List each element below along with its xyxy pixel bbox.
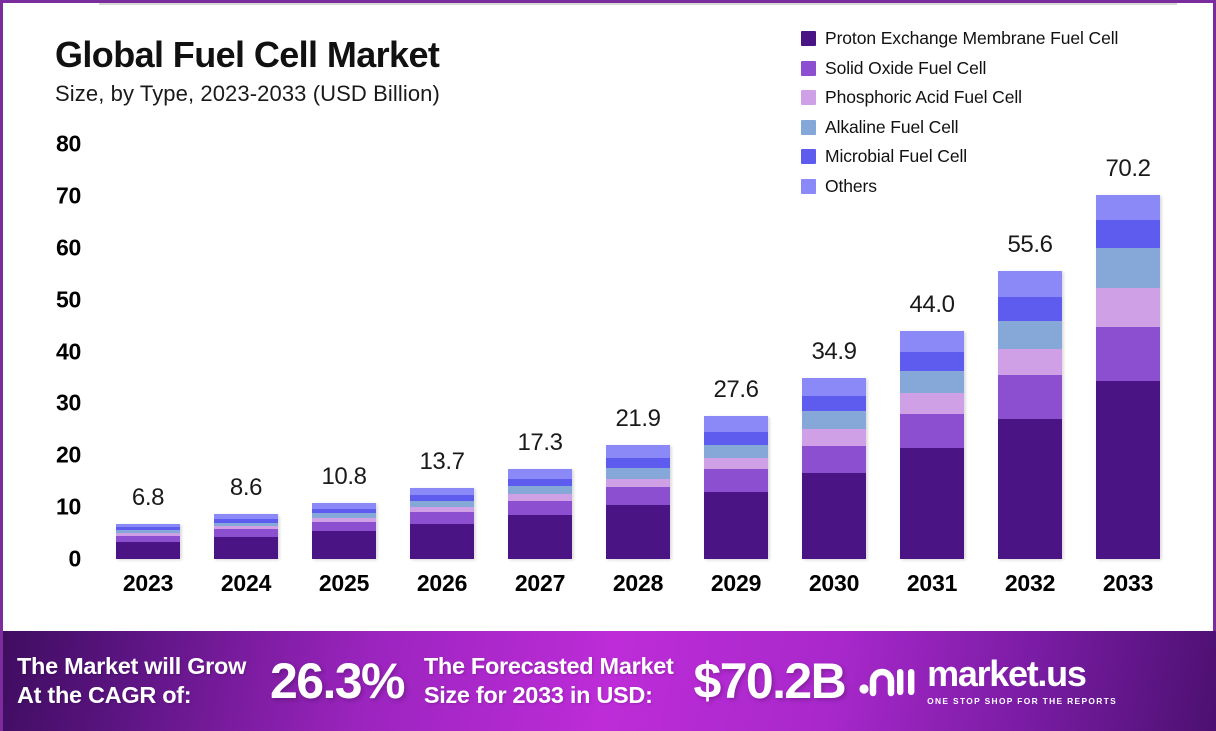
bar-segment[interactable]: [214, 529, 278, 536]
bar-segment[interactable]: [802, 396, 866, 411]
x-axis-tick-label: 2030: [785, 570, 883, 597]
x-axis-tick-label: 2024: [197, 570, 295, 597]
bar-segment[interactable]: [900, 371, 964, 393]
x-axis-tick-label: 2032: [981, 570, 1079, 597]
bar-column[interactable]: 6.82023: [99, 3, 197, 623]
bar-column[interactable]: 70.22033: [1079, 3, 1177, 623]
bar-segment[interactable]: [998, 375, 1062, 419]
summary-banner: The Market will Grow At the CAGR of: 26.…: [3, 631, 1216, 731]
stacked-bar[interactable]: [998, 271, 1062, 559]
bar-segment[interactable]: [900, 448, 964, 558]
bar-segment[interactable]: [1096, 220, 1160, 248]
stacked-bar[interactable]: [410, 488, 474, 559]
bar-segment[interactable]: [410, 488, 474, 495]
bar-segment[interactable]: [508, 486, 572, 494]
bar-value-label: 70.2: [1079, 155, 1177, 183]
market-us-logo-mark-icon: [859, 659, 917, 704]
bar-segment[interactable]: [312, 531, 376, 559]
bar-segment[interactable]: [606, 487, 670, 505]
bar-column[interactable]: 13.72026: [393, 3, 491, 623]
bar-group: 6.820238.6202410.8202513.7202617.3202721…: [99, 3, 1177, 623]
bar-segment[interactable]: [802, 446, 866, 473]
bar-value-label: 17.3: [491, 429, 589, 457]
bar-value-label: 8.6: [197, 474, 295, 502]
forecast-label-line2: Size for 2033 in USD:: [424, 681, 674, 710]
bar-value-label: 55.6: [981, 231, 1079, 259]
bar-column[interactable]: 34.92030: [785, 3, 883, 623]
bar-segment[interactable]: [1096, 248, 1160, 287]
y-axis-tick-label: 0: [69, 546, 82, 573]
bar-column[interactable]: 17.32027: [491, 3, 589, 623]
stacked-bar[interactable]: [508, 469, 572, 559]
x-axis-tick-label: 2033: [1079, 570, 1177, 597]
bar-segment[interactable]: [802, 411, 866, 429]
bar-value-label: 10.8: [295, 463, 393, 491]
bar-segment[interactable]: [998, 349, 1062, 374]
forecast-value: $70.2B: [694, 652, 846, 710]
y-axis-tick-label: 80: [56, 131, 81, 158]
bar-segment[interactable]: [410, 524, 474, 559]
cagr-label: The Market will Grow At the CAGR of:: [17, 652, 246, 709]
x-axis-tick-label: 2027: [491, 570, 589, 597]
y-axis-tick-label: 20: [56, 442, 81, 469]
logo-tagline: ONE STOP SHOP FOR THE REPORTS: [927, 696, 1117, 706]
bar-segment[interactable]: [998, 419, 1062, 559]
bar-segment[interactable]: [606, 468, 670, 478]
bar-segment[interactable]: [704, 469, 768, 491]
bar-column[interactable]: 44.02031: [883, 3, 981, 623]
stacked-bar[interactable]: [1096, 195, 1160, 559]
bar-segment[interactable]: [606, 479, 670, 488]
bar-value-label: 13.7: [393, 448, 491, 476]
bar-segment[interactable]: [508, 515, 572, 559]
bar-segment[interactable]: [704, 445, 768, 458]
market-us-logo-text: market.us ONE STOP SHOP FOR THE REPORTS: [927, 656, 1117, 706]
bar-segment[interactable]: [1096, 381, 1160, 559]
chart-plot-area: 01020304050607080 6.820238.6202410.82025…: [3, 3, 1216, 623]
y-axis-tick-label: 10: [56, 494, 81, 521]
bar-segment[interactable]: [704, 458, 768, 469]
bar-segment[interactable]: [606, 445, 670, 457]
bar-segment[interactable]: [508, 479, 572, 487]
x-axis-tick-label: 2028: [589, 570, 687, 597]
x-axis-tick-label: 2026: [393, 570, 491, 597]
bar-segment[interactable]: [410, 512, 474, 523]
x-axis-tick-label: 2023: [99, 570, 197, 597]
bar-segment[interactable]: [704, 432, 768, 445]
y-axis-tick-label: 40: [56, 338, 81, 365]
bar-segment[interactable]: [802, 378, 866, 396]
y-axis-tick-label: 60: [56, 234, 81, 261]
bar-segment[interactable]: [1096, 195, 1160, 220]
bar-segment[interactable]: [1096, 327, 1160, 381]
bar-segment[interactable]: [606, 458, 670, 468]
bar-segment[interactable]: [802, 429, 866, 446]
bar-column[interactable]: 27.62029: [687, 3, 785, 623]
bar-segment[interactable]: [900, 331, 964, 352]
x-axis-tick-label: 2029: [687, 570, 785, 597]
bar-segment[interactable]: [998, 297, 1062, 321]
bar-segment[interactable]: [508, 494, 572, 501]
bar-segment[interactable]: [802, 473, 866, 559]
bar-value-label: 21.9: [589, 405, 687, 433]
bar-segment[interactable]: [508, 469, 572, 478]
bar-value-label: 27.6: [687, 376, 785, 404]
stacked-bar[interactable]: [704, 416, 768, 559]
bar-column[interactable]: 10.82025: [295, 3, 393, 623]
bar-segment[interactable]: [900, 352, 964, 371]
bar-segment[interactable]: [704, 492, 768, 559]
forecast-label-line1: The Forecasted Market: [424, 652, 674, 681]
bar-segment[interactable]: [998, 321, 1062, 350]
stacked-bar[interactable]: [606, 445, 670, 559]
forecast-label: The Forecasted Market Size for 2033 in U…: [424, 652, 674, 709]
bar-segment[interactable]: [900, 414, 964, 448]
x-axis-tick-label: 2025: [295, 570, 393, 597]
bar-segment[interactable]: [508, 501, 572, 515]
bar-value-label: 34.9: [785, 338, 883, 366]
infographic-container: Global Fuel Cell Market Size, by Type, 2…: [0, 0, 1216, 731]
bar-segment[interactable]: [116, 542, 180, 559]
cagr-label-line1: The Market will Grow: [17, 652, 246, 681]
logo-wordmark: market.us: [927, 656, 1117, 692]
cagr-value: 26.3%: [270, 652, 404, 710]
bar-segment[interactable]: [998, 271, 1062, 297]
bar-column[interactable]: 21.92028: [589, 3, 687, 623]
stacked-bar[interactable]: [116, 524, 180, 559]
x-axis-tick-label: 2031: [883, 570, 981, 597]
stacked-bar[interactable]: [802, 378, 866, 559]
cagr-label-line2: At the CAGR of:: [17, 681, 246, 710]
y-axis-tick-label: 70: [56, 182, 81, 209]
bar-segment[interactable]: [606, 505, 670, 559]
bar-segment[interactable]: [214, 537, 278, 559]
bar-segment[interactable]: [1096, 288, 1160, 327]
bar-column[interactable]: 55.62032: [981, 3, 1079, 623]
stacked-bar[interactable]: [214, 514, 278, 559]
bar-value-label: 44.0: [883, 291, 981, 319]
stacked-bar[interactable]: [312, 503, 376, 559]
bar-segment[interactable]: [704, 416, 768, 433]
bar-segment[interactable]: [312, 522, 376, 531]
y-axis-tick-label: 30: [56, 390, 81, 417]
stacked-bar[interactable]: [900, 331, 964, 559]
y-axis: 01020304050607080: [3, 3, 103, 623]
y-axis-tick-label: 50: [56, 286, 81, 313]
market-us-logo[interactable]: market.us ONE STOP SHOP FOR THE REPORTS: [859, 656, 1117, 706]
bar-column[interactable]: 8.62024: [197, 3, 295, 623]
bar-value-label: 6.8: [99, 484, 197, 512]
bar-segment[interactable]: [900, 393, 964, 414]
